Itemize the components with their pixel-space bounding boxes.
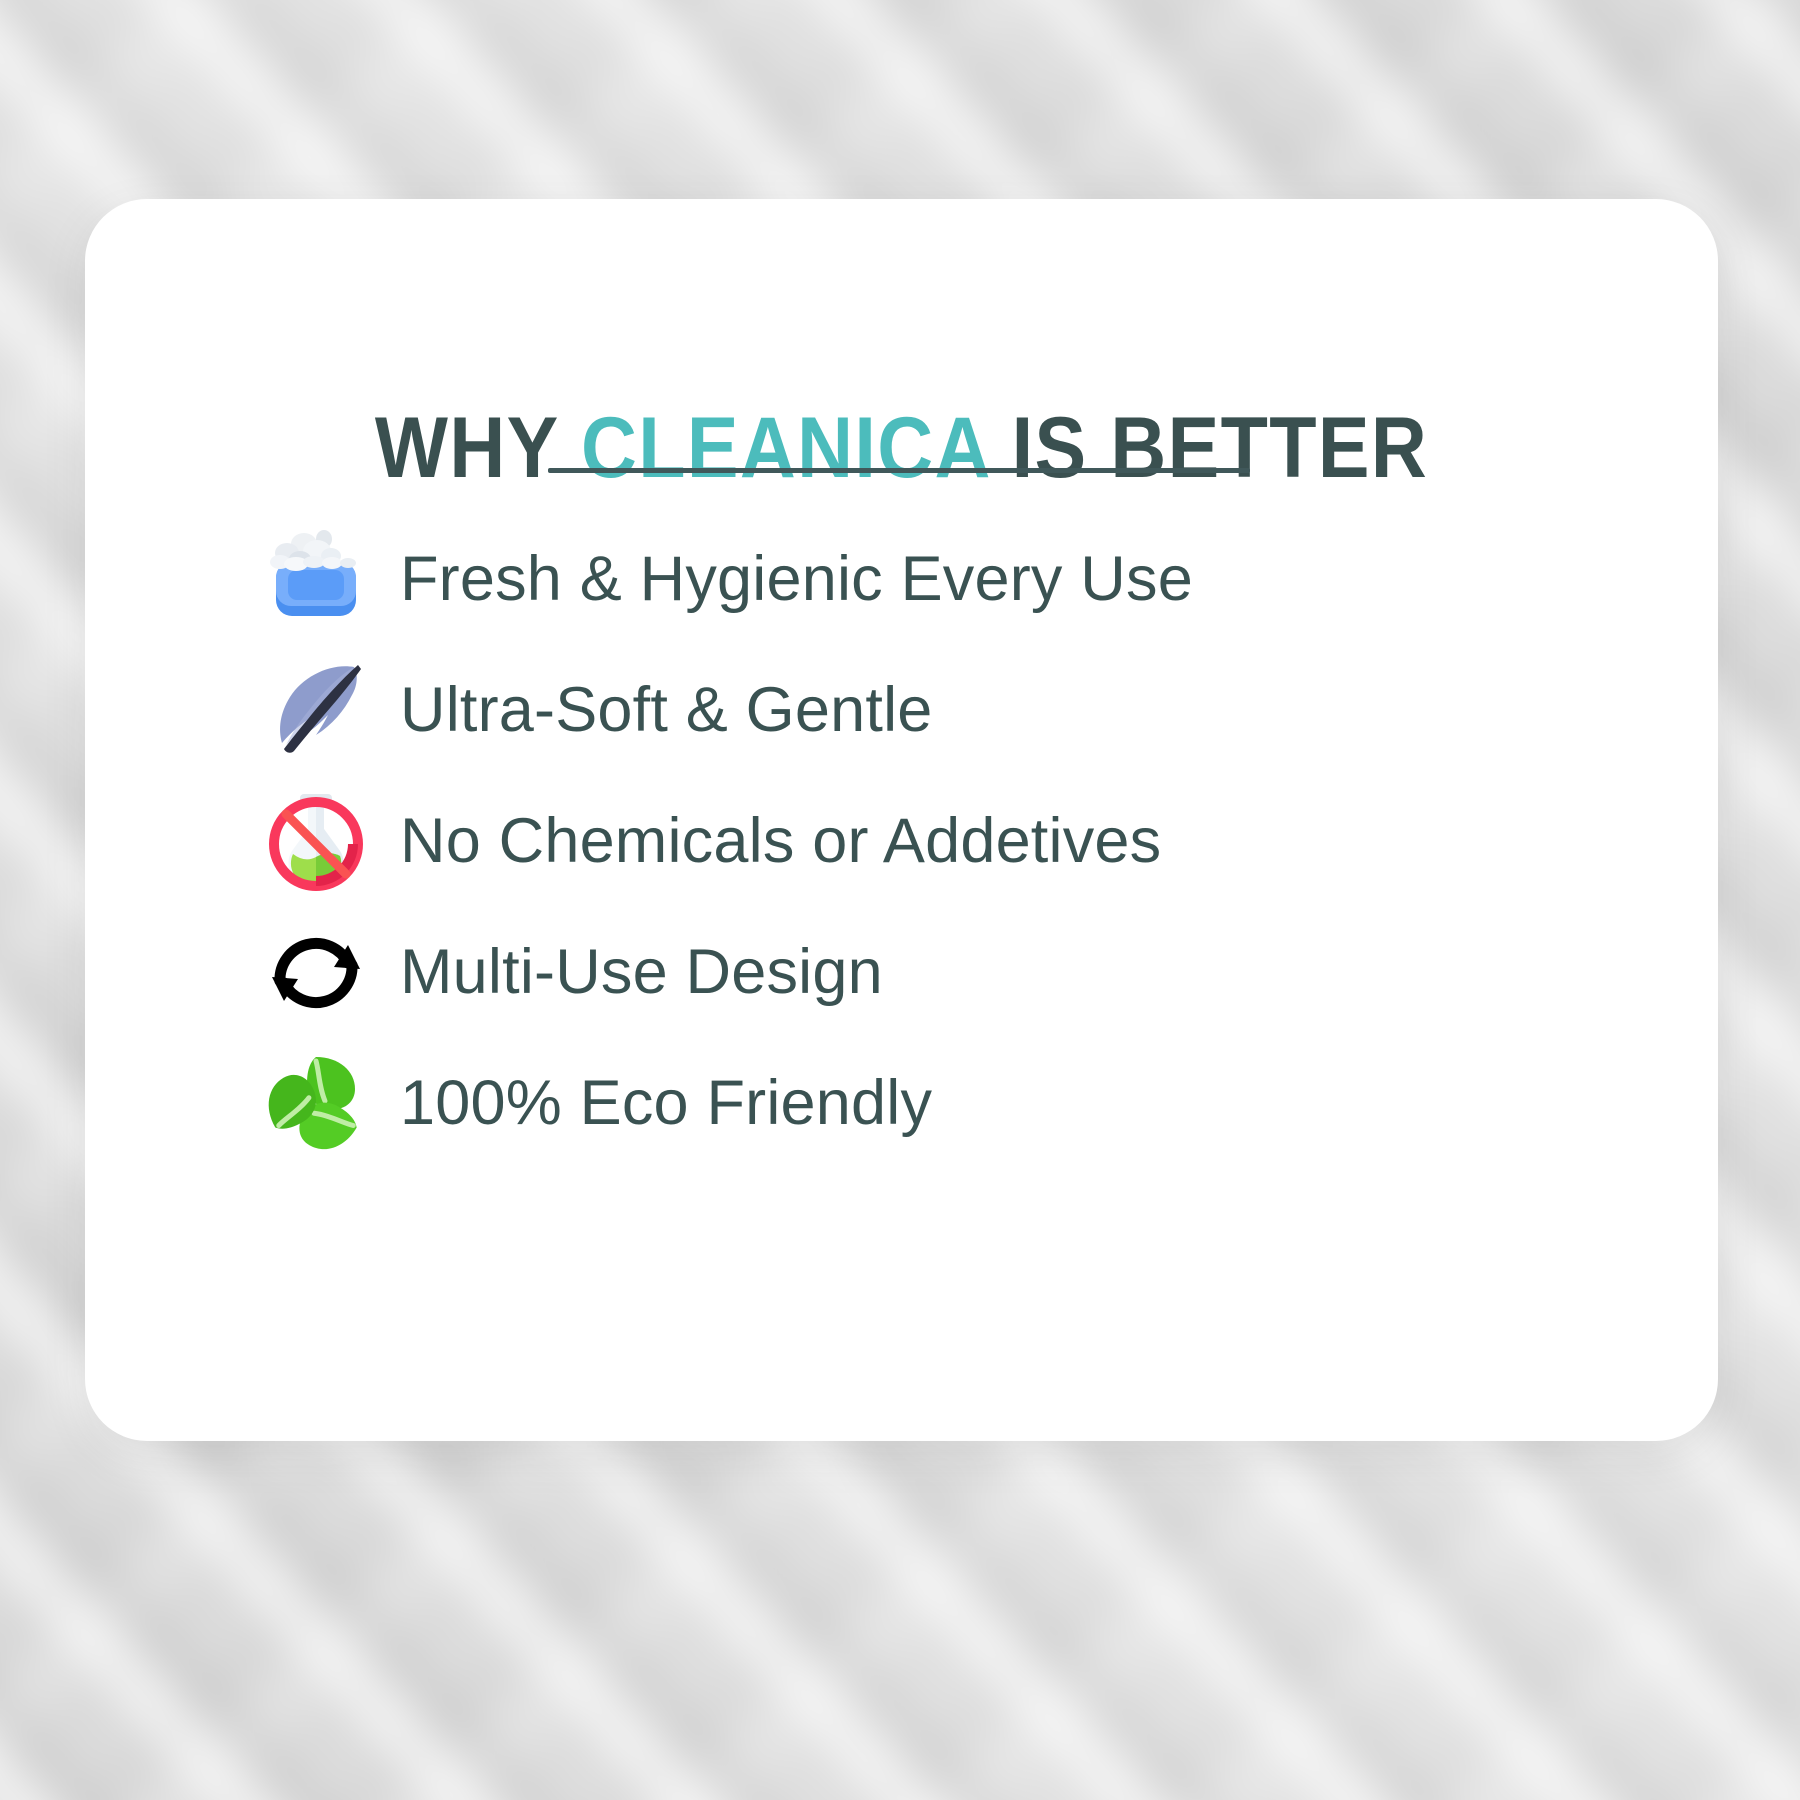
card-content: WHY CLEANICA IS BETTER xyxy=(85,199,1718,1441)
recycle-leaves-icon xyxy=(260,1048,372,1160)
feature-label: Multi-Use Design xyxy=(400,939,883,1005)
repeat-arrows-icon xyxy=(260,917,372,1029)
feature-label: Fresh & Hygienic Every Use xyxy=(400,546,1193,612)
title-segment-brand: CLEANICA xyxy=(581,400,989,496)
feature-item-fresh-hygienic: Fresh & Hygienic Every Use xyxy=(260,514,1678,645)
feature-item-no-chemicals: No Chemicals or Addetives xyxy=(260,776,1678,907)
feather-icon xyxy=(260,655,372,767)
feature-item-multi-use: Multi-Use Design xyxy=(260,907,1678,1038)
no-chemicals-flask-icon xyxy=(260,786,372,898)
page-title: WHY CLEANICA IS BETTER xyxy=(167,405,1637,491)
feature-item-eco-friendly: 100% Eco Friendly xyxy=(260,1038,1678,1169)
feature-label: Ultra-Soft & Gentle xyxy=(400,677,933,743)
feature-card: WHY CLEANICA IS BETTER xyxy=(85,199,1718,1441)
feature-item-ultra-soft: Ultra-Soft & Gentle xyxy=(260,645,1678,776)
soap-bar-icon xyxy=(260,524,372,636)
feature-label: 100% Eco Friendly xyxy=(400,1070,932,1136)
feature-label: No Chemicals or Addetives xyxy=(400,808,1161,874)
title-divider xyxy=(548,468,1250,473)
title-segment-why: WHY xyxy=(375,400,581,496)
feature-list: Fresh & Hygienic Every Use Ultra-Soft & … xyxy=(260,514,1678,1169)
title-segment-is-better: IS BETTER xyxy=(989,400,1428,496)
